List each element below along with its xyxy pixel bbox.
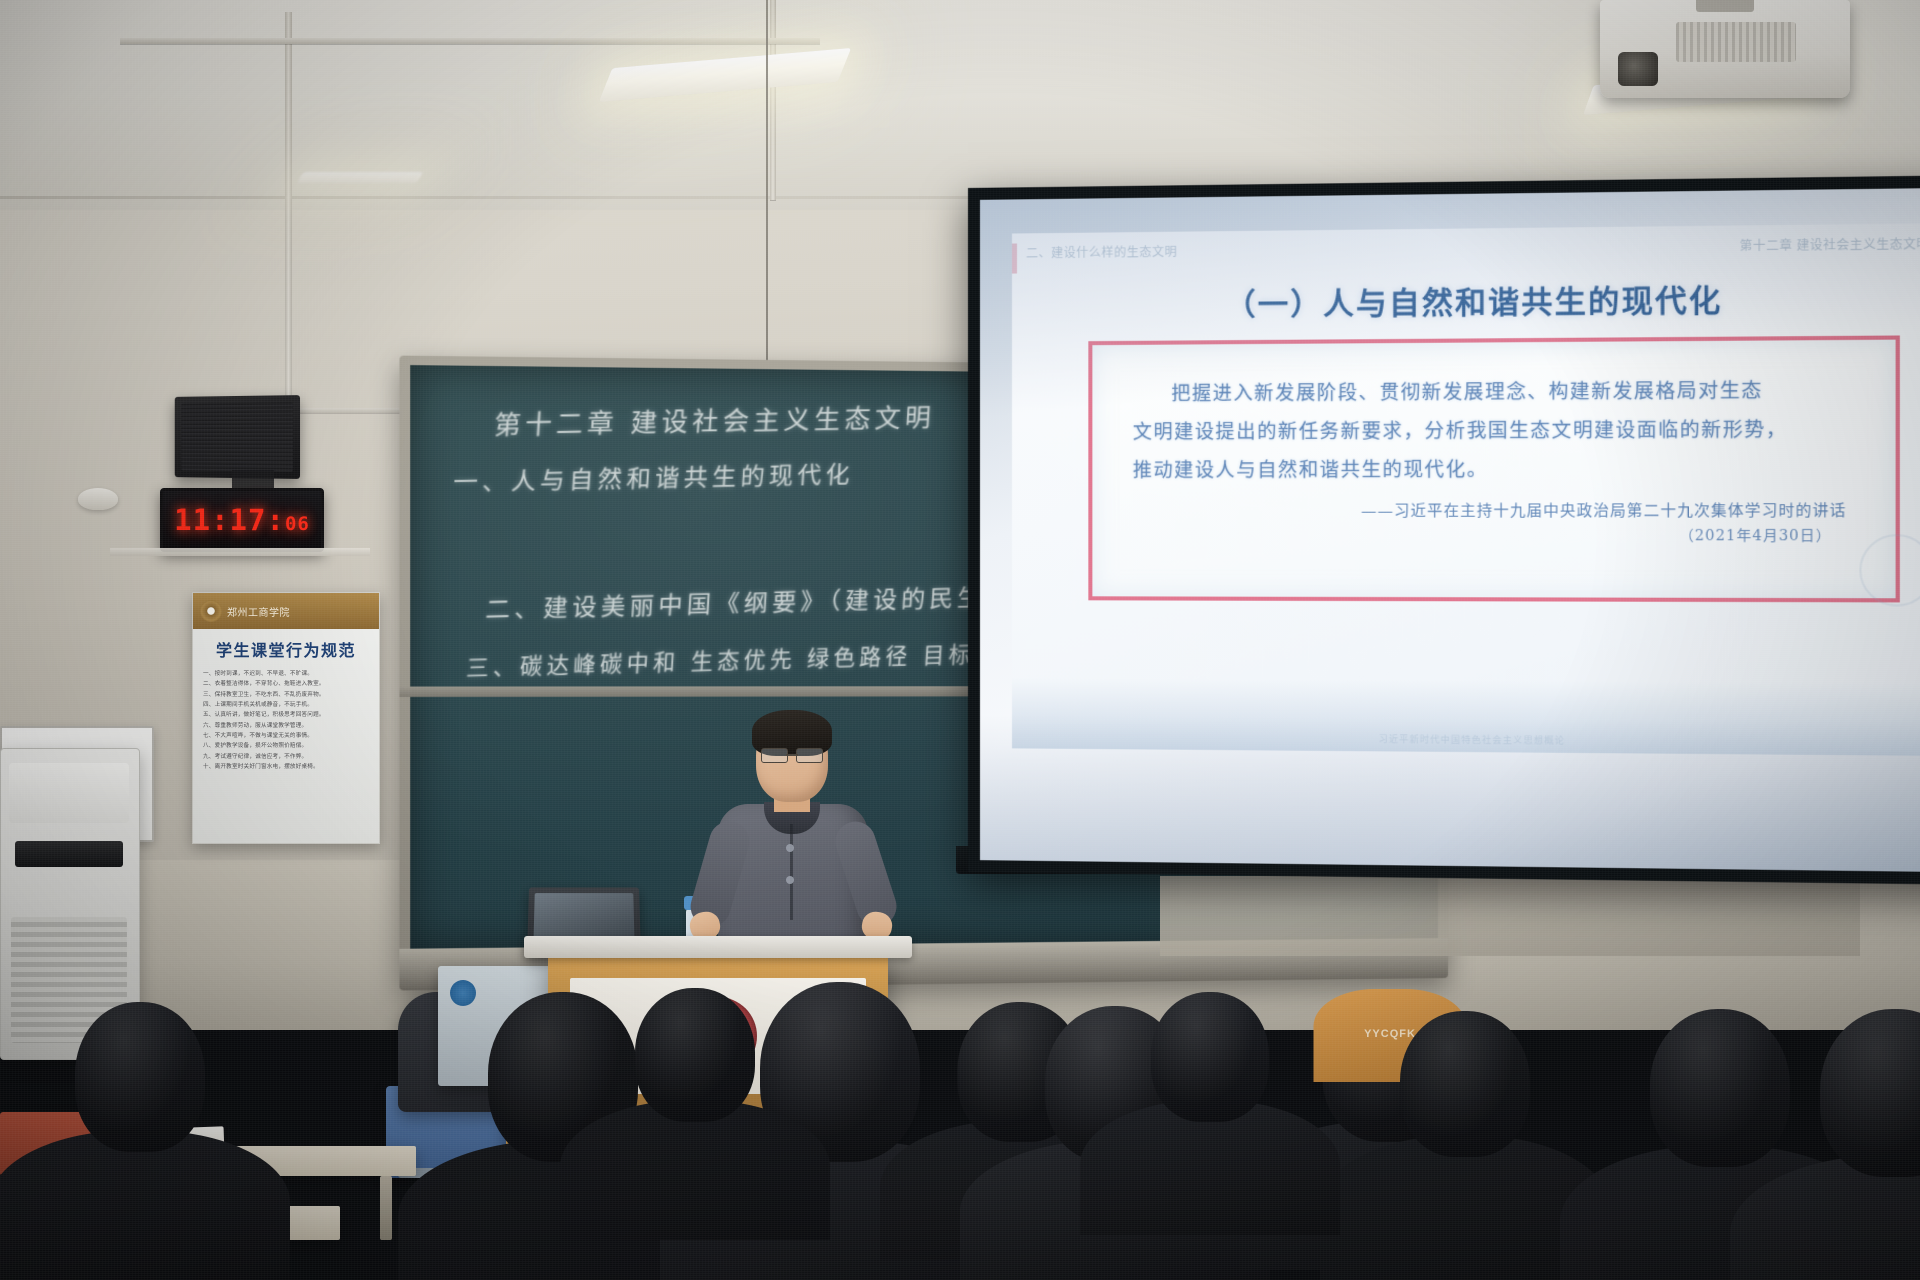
student-silhouette — [0, 980, 290, 1280]
conduit-pipe-vertical — [285, 12, 292, 412]
quote-attribution: ——习近平在主持十九届中央政治局第二十九次集体学习时的讲话 — [1133, 499, 1853, 521]
student-head — [75, 1002, 205, 1152]
poster-rule: 一、按时到课，不迟到、不早退、不旷课。 — [203, 669, 369, 679]
podium-top-surface — [524, 936, 912, 958]
poster-rule: 七、不大声喧哗，不做与课堂无关的事情。 — [203, 731, 369, 741]
classroom-rules-poster: 郑州工商学院 学生课堂行为规范 一、按时到课，不迟到、不早退、不旷课。 二、衣着… — [192, 592, 380, 844]
conduit-pipe-horizontal — [120, 38, 820, 44]
speaker-grille — [181, 402, 293, 471]
lecturer-button-2 — [786, 876, 794, 884]
quote-line-1: 把握进入新发展阶段、贯彻新发展理念、构建新发展格局对生态 — [1133, 371, 1853, 413]
poster-rule: 三、保持教室卫生，不吃东西、不乱扔废弃物。 — [203, 690, 369, 700]
slide-quote-box: 把握进入新发展阶段、贯彻新发展理念、构建新发展格局对生态 文明建设提出的新任务新… — [1088, 335, 1900, 602]
lecturer-button — [786, 844, 794, 852]
slide-title: （一）人与自然和谐共生的现代化 — [1012, 273, 1920, 326]
poster-rules-list: 一、按时到课，不迟到、不早退、不旷课。 二、衣着整洁得体，不穿背心、拖鞋进入教室… — [203, 669, 369, 772]
quote-attribution-date: （2021年4月30日） — [1133, 525, 1853, 546]
classroom-scene: 第十二章 建设社会主义生态文明 一、人与自然和谐共生的现代化 二、建设美丽中国《… — [0, 0, 1920, 1280]
student-silhouette — [1080, 970, 1340, 1235]
student-head — [1151, 992, 1269, 1122]
ceiling-light-fixture-3 — [297, 172, 423, 183]
poster-rule: 九、考试遵守纪律，诚信应考，不作弊。 — [203, 752, 369, 762]
led-wall-clock: 11:17:06 — [160, 488, 324, 552]
clock-colon: : — [266, 503, 284, 537]
student-shoulders — [0, 1130, 290, 1280]
poster-title: 学生课堂行为规范 — [193, 637, 379, 661]
student-head — [1820, 1009, 1920, 1177]
wall-speaker — [175, 395, 300, 479]
chalk-line-4: 三、碳达峰碳中和 生态优先 绿色路径 目标 引领 — [465, 637, 1038, 683]
student-silhouette — [560, 966, 830, 1240]
clock-seconds: 06 — [285, 513, 310, 535]
slide-header-right: 第十二章 建设社会主义生态文明 — [1740, 234, 1920, 254]
lecturer-glasses-icon — [761, 748, 823, 761]
smoke-detector-icon — [78, 488, 118, 510]
student-silhouette — [1730, 987, 1920, 1280]
desk-leg — [380, 1176, 392, 1240]
wall-panel-strip — [1160, 876, 1860, 956]
quote-line-3: 推动建设人与自然和谐共生的现代化。 — [1133, 449, 1853, 489]
quote-line-2: 文明建设提出的新任务新要求，分析我国生态文明建设面临的新形势， — [1133, 410, 1853, 451]
chalk-line-2: 一、人与自然和谐共生的现代化 — [452, 455, 855, 498]
clock-display: 11:17:06 — [174, 503, 310, 537]
lecturer-placket — [790, 824, 793, 920]
student-head — [1400, 1011, 1530, 1157]
poster-rule: 五、认真听讲，做好笔记，积极思考回答问题。 — [203, 710, 369, 720]
poster-rule: 二、衣着整洁得体，不穿背心、拖鞋进入教室。 — [203, 679, 369, 689]
poster-school-name: 郑州工商学院 — [227, 604, 290, 619]
wall-shelf — [110, 548, 370, 556]
school-emblem-icon — [200, 600, 222, 622]
ac-control-panel — [15, 841, 123, 867]
poster-rule: 八、爱护教学设备，损坏公物照价赔偿。 — [203, 741, 369, 751]
ac-top-cover — [9, 763, 129, 823]
poster-rule: 六、尊重教师劳动，服从课堂教学管理。 — [203, 721, 369, 731]
projection-screen-surface: 二、建设什么样的生态文明 第十二章 建设社会主义生态文明 （一）人与自然和谐共生… — [980, 188, 1920, 873]
speaker-bracket — [232, 470, 274, 488]
slide-quote-inner: 把握进入新发展阶段、贯彻新发展理念、构建新发展格局对生态 文明建设提出的新任务新… — [1092, 340, 1895, 599]
projection-screen: 二、建设什么样的生态文明 第十二章 建设社会主义生态文明 （一）人与自然和谐共生… — [968, 175, 1920, 885]
presentation-slide: 二、建设什么样的生态文明 第十二章 建设社会主义生态文明 （一）人与自然和谐共生… — [1012, 223, 1920, 756]
student-head — [635, 988, 755, 1122]
clock-time: 11:17 — [174, 503, 266, 537]
chalk-line-1: 第十二章 建设社会主义生态文明 — [493, 398, 936, 443]
projector-vent — [1676, 22, 1796, 62]
conduit-pipe-vertical-2 — [770, 0, 776, 200]
laptop-screen — [533, 893, 634, 942]
poster-rule: 四、上课期间手机关机或静音，不玩手机。 — [203, 700, 369, 710]
ceiling-projector — [1600, 0, 1850, 98]
slide-header-left: 二、建设什么样的生态文明 — [1026, 242, 1177, 261]
projector-mount — [1696, 0, 1754, 12]
poster-rule: 十、离开教室时关好门窗水电，摆放好桌椅。 — [203, 762, 369, 772]
projector-lens-icon — [1618, 52, 1658, 86]
poster-header-band: 郑州工商学院 — [193, 593, 379, 629]
slide-accent-bar — [1012, 243, 1017, 273]
slide-header: 二、建设什么样的生态文明 第十二章 建设社会主义生态文明 — [1026, 232, 1920, 264]
